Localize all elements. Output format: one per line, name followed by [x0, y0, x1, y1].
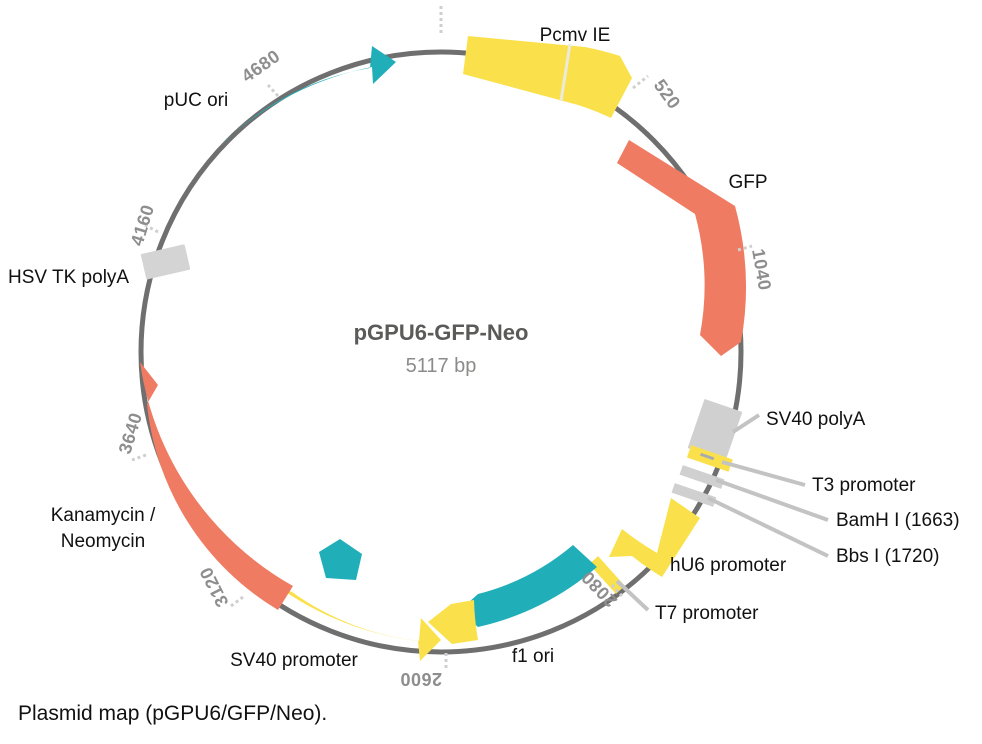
feature-label-f1-ori: f1 ori [512, 646, 554, 667]
feature-label-gfp: GFP [728, 172, 767, 193]
feature-label-sv40-promoter: SV40 promoter [230, 650, 358, 671]
tick-label-4680: 4680 [238, 46, 284, 87]
feature-pcmv-ie[interactable] [463, 36, 632, 118]
feature-label-sv40-polya: SV40 polyA [766, 409, 866, 430]
tick-2600: 2600 [400, 653, 446, 689]
leader-t3-promoter [722, 462, 805, 485]
feature-label-neomycin: Neomycin [61, 531, 145, 552]
feature-label-hu6-promoter: hU6 promoter [670, 555, 787, 576]
tick-label-3640: 3640 [115, 410, 146, 456]
feature-label-bbsi: Bbs I (1720) [836, 546, 940, 567]
feature-label-hsv-tk-polya: HSV TK polyA [8, 267, 129, 288]
feature-label-puc-ori: pUC ori [164, 90, 228, 111]
tick-label-3120: 3120 [196, 564, 233, 611]
feature-label-bamhi: BamH I (1663) [836, 510, 960, 531]
feature-label-t7-promoter: T7 promoter [655, 603, 759, 624]
feature-hsv-tk-polya[interactable] [141, 244, 191, 279]
plasmid-size: 5117 bp [406, 355, 477, 377]
feature-label-pcmv-ie: Pcmv IE [540, 25, 611, 46]
feature-label-t3-promoter: T3 promoter [812, 475, 916, 496]
feature-f1-ori[interactable] [459, 545, 597, 627]
tick-520: 520 [633, 76, 684, 113]
plasmid-map-figure: 520 1040 2080 2600 3120 3640 [0, 0, 982, 744]
plasmid-map-svg: 520 1040 2080 2600 3120 3640 [0, 0, 982, 744]
figure-caption: Plasmid map (pGPU6/GFP/Neo). [18, 702, 327, 726]
tick-4680: 4680 [238, 46, 284, 96]
tick-3640: 3640 [115, 410, 146, 460]
tick-label-4160: 4160 [127, 202, 158, 248]
feature-unlabeled-teal-pentagon[interactable] [319, 539, 362, 580]
tick-label-1040: 1040 [748, 247, 775, 292]
leader-bbsi [708, 498, 828, 556]
tick-label-520: 520 [650, 76, 685, 113]
tick-4160: 4160 [127, 202, 158, 248]
plasmid-name: pGPU6-GFP-Neo [354, 320, 529, 345]
tick-label-2600: 2600 [400, 669, 442, 689]
feature-label-kanamycin: Kanamycin / [51, 505, 156, 526]
